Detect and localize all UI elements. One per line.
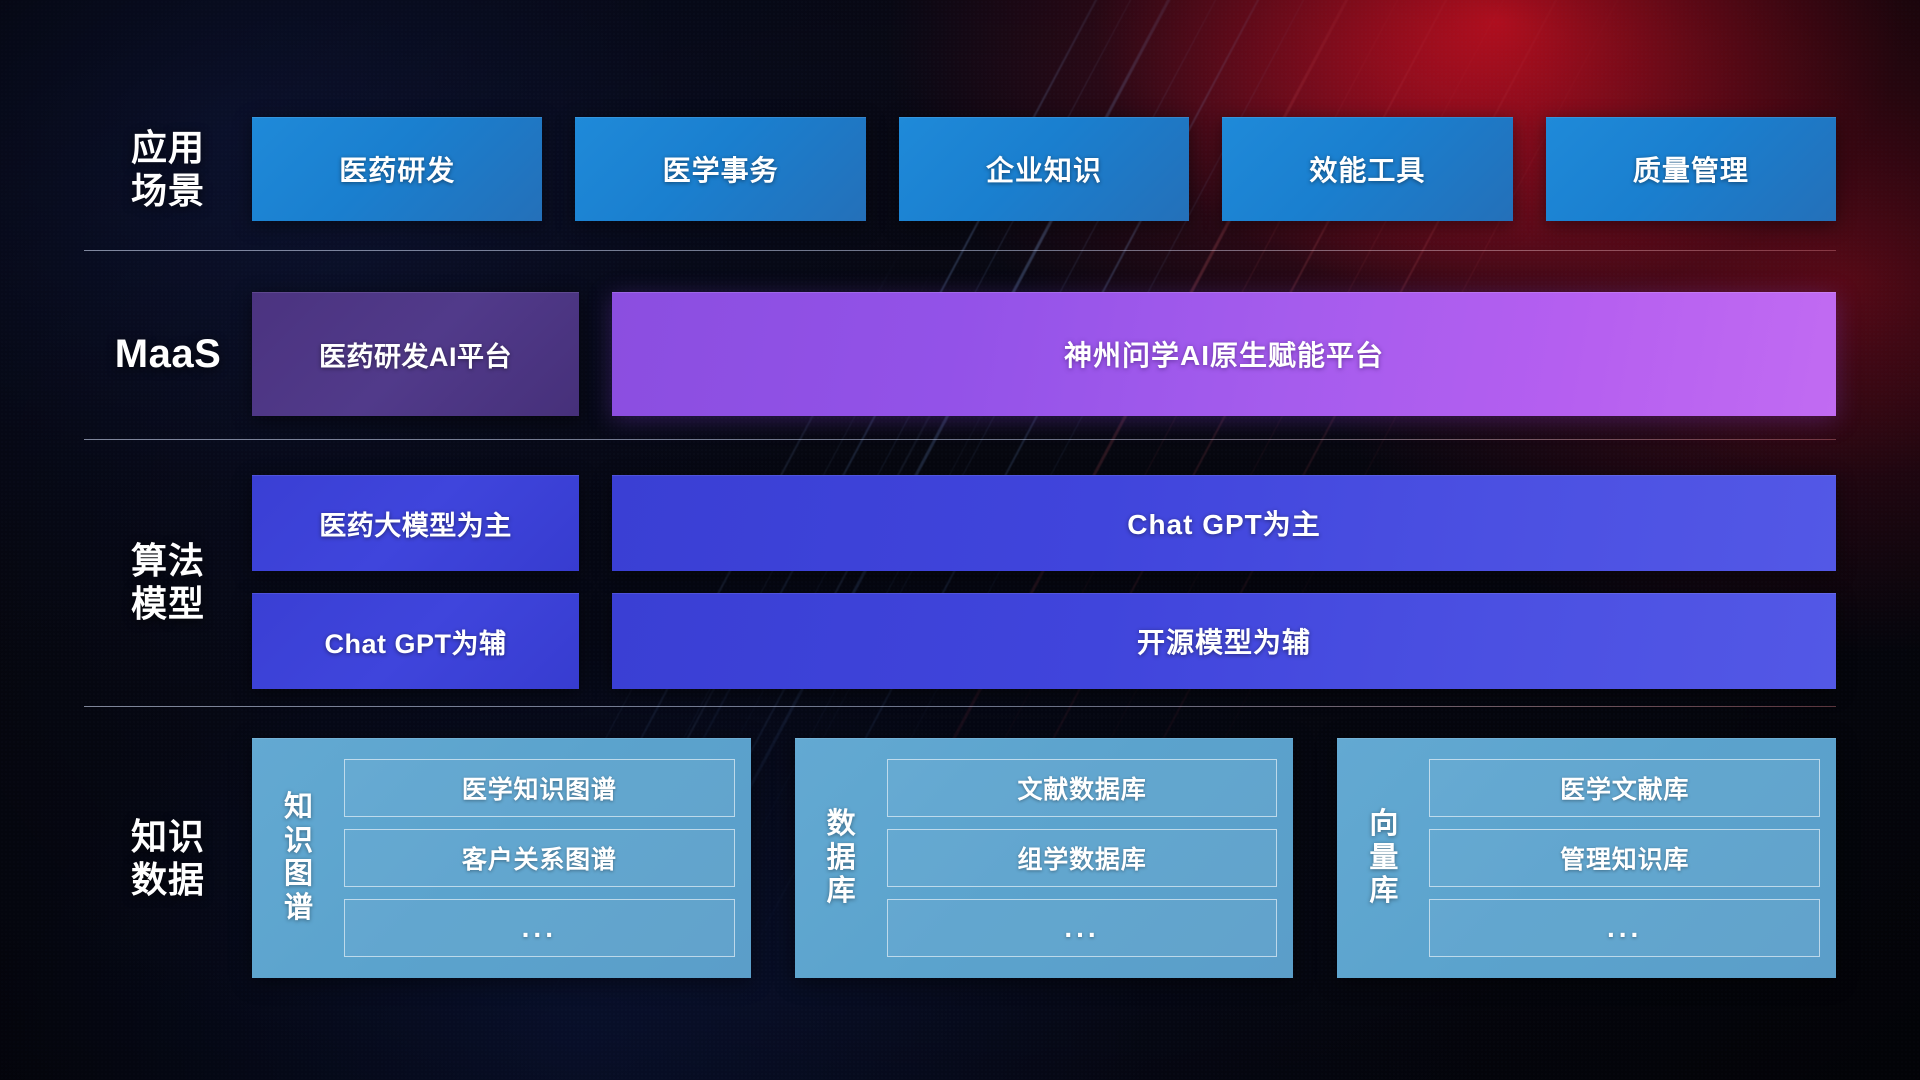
tier-label-application-scenarios: 应用 场景	[84, 126, 252, 212]
tier-body-knowledge-data: 知 识 图 谱 医学知识图谱 客户关系图谱 ... 数 据 库 文献数据库 组学…	[252, 738, 1836, 978]
knowledge-group-side-label-database: 数 据 库	[811, 752, 873, 964]
tier-body-application-scenarios: 医药研发 医学事务 企业知识 效能工具 质量管理	[252, 117, 1836, 221]
knowledge-group-database: 数 据 库 文献数据库 组学数据库 ...	[795, 738, 1294, 978]
algo-card-pharma-llm-primary[interactable]: 医药大模型为主	[252, 475, 579, 571]
algo-card-opensource-secondary[interactable]: 开源模型为辅	[612, 593, 1836, 689]
knowledge-item-omics-database[interactable]: 组学数据库	[887, 829, 1278, 887]
knowledge-item-medical-knowledge-graph[interactable]: 医学知识图谱	[344, 759, 735, 817]
tier-label-maas: MaaS	[84, 330, 252, 378]
architecture-diagram: 应用 场景 医药研发 医学事务 企业知识 效能工具 质量管理 MaaS 医药研发…	[0, 0, 1920, 1080]
knowledge-item-medical-literature-store[interactable]: 医学文献库	[1429, 759, 1820, 817]
tier-body-algorithm-model: 医药大模型为主 Chat GPT为主 Chat GPT为辅 开源模型为辅	[252, 475, 1836, 689]
tier-knowledge-data: 知识 数据 知 识 图 谱 医学知识图谱 客户关系图谱 ... 数 据 库	[84, 733, 1836, 984]
knowledge-group-knowledge-graph: 知 识 图 谱 医学知识图谱 客户关系图谱 ...	[252, 738, 751, 978]
knowledge-group-side-label-vector-store: 向 量 库	[1353, 752, 1415, 964]
spacer	[84, 707, 1836, 733]
side-label-text: 向 量 库	[1369, 808, 1399, 909]
app-card-drug-rd[interactable]: 医药研发	[252, 117, 542, 221]
knowledge-item-customer-relation-graph[interactable]: 客户关系图谱	[344, 829, 735, 887]
knowledge-item-more-vector-store[interactable]: ...	[1429, 899, 1820, 957]
tier-application-scenarios: 应用 场景 医药研发 医学事务 企业知识 效能工具 质量管理	[84, 88, 1836, 250]
app-card-efficiency-tools[interactable]: 效能工具	[1222, 117, 1512, 221]
knowledge-group-vector-store: 向 量 库 医学文献库 管理知识库 ...	[1337, 738, 1836, 978]
spacer	[84, 440, 1836, 458]
side-label-text: 数 据 库	[827, 808, 857, 909]
maas-card-drug-rd-ai-platform[interactable]: 医药研发AI平台	[252, 292, 579, 416]
algo-card-chatgpt-secondary[interactable]: Chat GPT为辅	[252, 593, 579, 689]
knowledge-item-management-knowledge-store[interactable]: 管理知识库	[1429, 829, 1820, 887]
knowledge-item-list-vector-store: 医学文献库 管理知识库 ...	[1429, 752, 1820, 964]
algo-card-chatgpt-primary[interactable]: Chat GPT为主	[612, 475, 1836, 571]
side-label-text: 知 识 图 谱	[284, 791, 314, 926]
tier-algorithm-model: 算法 模型 医药大模型为主 Chat GPT为主 Chat GPT为辅 开源模型…	[84, 458, 1836, 705]
tier-maas: MaaS 医药研发AI平台 神州问学AI原生赋能平台	[84, 269, 1836, 439]
maas-card-row: 医药研发AI平台 神州问学AI原生赋能平台	[252, 292, 1836, 416]
knowledge-item-list-knowledge-graph: 医学知识图谱 客户关系图谱 ...	[344, 752, 735, 964]
knowledge-item-literature-database[interactable]: 文献数据库	[887, 759, 1278, 817]
algorithm-row-primary: 医药大模型为主 Chat GPT为主	[252, 475, 1836, 571]
tier-label-algorithm-model: 算法 模型	[84, 539, 252, 625]
tier-body-maas: 医药研发AI平台 神州问学AI原生赋能平台	[252, 292, 1836, 416]
spacer	[84, 251, 1836, 269]
application-card-row: 医药研发 医学事务 企业知识 效能工具 质量管理	[252, 117, 1836, 221]
knowledge-item-list-database: 文献数据库 组学数据库 ...	[887, 752, 1278, 964]
tier-label-knowledge-data: 知识 数据	[84, 815, 252, 901]
knowledge-item-more-knowledge-graph[interactable]: ...	[344, 899, 735, 957]
app-card-enterprise-knowledge[interactable]: 企业知识	[899, 117, 1189, 221]
algorithm-row-secondary: Chat GPT为辅 开源模型为辅	[252, 593, 1836, 689]
app-card-quality-management[interactable]: 质量管理	[1546, 117, 1836, 221]
algorithm-row-stack: 医药大模型为主 Chat GPT为主 Chat GPT为辅 开源模型为辅	[252, 475, 1836, 689]
knowledge-item-more-database[interactable]: ...	[887, 899, 1278, 957]
app-card-medical-affairs[interactable]: 医学事务	[575, 117, 865, 221]
maas-banner-shenzhou-wenxue[interactable]: 神州问学AI原生赋能平台	[612, 292, 1836, 416]
knowledge-group-row: 知 识 图 谱 医学知识图谱 客户关系图谱 ... 数 据 库 文献数据库 组学…	[252, 738, 1836, 978]
knowledge-group-side-label-knowledge-graph: 知 识 图 谱	[268, 752, 330, 964]
